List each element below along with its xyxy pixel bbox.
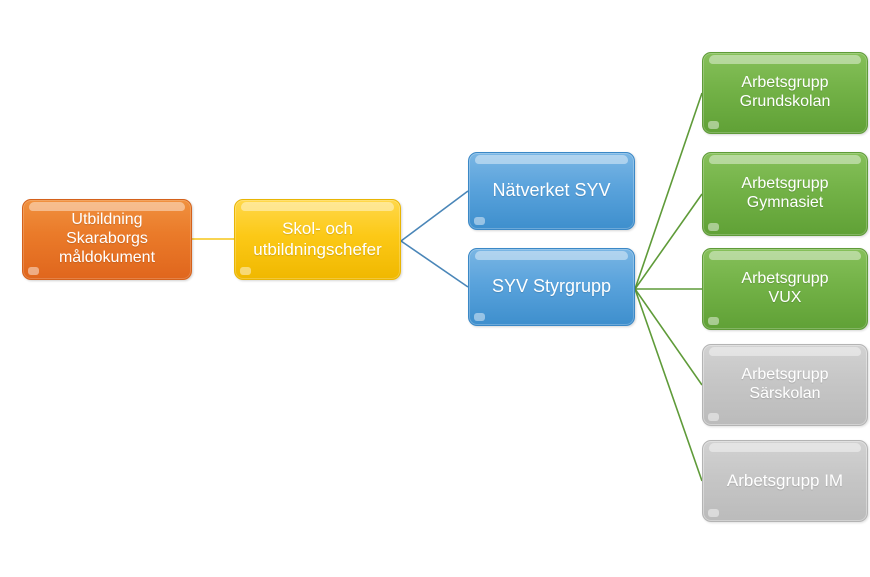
node-label-arbetsgrupp-gymnasiet: Arbetsgrupp Gymnasiet [703, 175, 867, 213]
connector-styrgrupp-to-gymnasiet [635, 194, 702, 289]
node-arbetsgrupp-grundskolan[interactable]: Arbetsgrupp Grundskolan [702, 52, 868, 134]
node-label-arbetsgrupp-im: Arbetsgrupp IM [703, 471, 867, 491]
connector-styrgrupp-to-im [635, 289, 702, 481]
node-arbetsgrupp-gymnasiet[interactable]: Arbetsgrupp Gymnasiet [702, 152, 868, 236]
connector-styrgrupp-to-sarskolan [635, 289, 702, 385]
node-arbetsgrupp-vux[interactable]: Arbetsgrupp VUX [702, 248, 868, 330]
node-syv-styrgrupp[interactable]: SYV Styrgrupp [468, 248, 635, 326]
node-label-skol-och-utbildningschefer: Skol- och utbildningschefer [235, 219, 400, 259]
node-label-arbetsgrupp-vux: Arbetsgrupp VUX [703, 270, 867, 308]
node-label-arbetsgrupp-sarskolan: Arbetsgrupp Särskolan [703, 366, 867, 404]
node-label-utbildning-skaraborgs-maldokument: Utbildning Skaraborgs måldokument [23, 211, 191, 268]
connector-chefer-to-natverket [401, 191, 468, 241]
node-natverket-syv[interactable]: Nätverket SYV [468, 152, 635, 230]
connector-styrgrupp-to-grundskolan [635, 93, 702, 289]
org-chart-diagram: Utbildning Skaraborgs måldokumentSkol- o… [0, 0, 870, 577]
node-label-syv-styrgrupp: SYV Styrgrupp [469, 276, 634, 297]
connector-chefer-to-styrgrupp [401, 241, 468, 287]
node-utbildning-skaraborgs-maldokument[interactable]: Utbildning Skaraborgs måldokument [22, 199, 192, 280]
node-arbetsgrupp-im[interactable]: Arbetsgrupp IM [702, 440, 868, 522]
node-skol-och-utbildningschefer[interactable]: Skol- och utbildningschefer [234, 199, 401, 280]
node-label-natverket-syv: Nätverket SYV [469, 180, 634, 201]
node-label-arbetsgrupp-grundskolan: Arbetsgrupp Grundskolan [703, 74, 867, 112]
node-arbetsgrupp-sarskolan[interactable]: Arbetsgrupp Särskolan [702, 344, 868, 426]
